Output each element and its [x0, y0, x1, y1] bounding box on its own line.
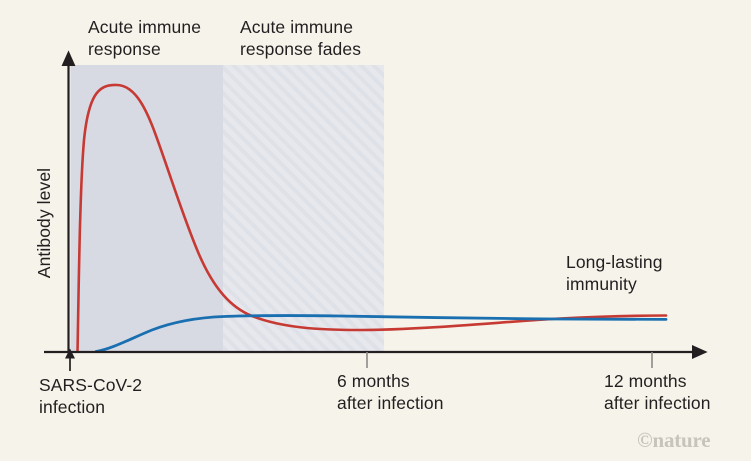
- label-6-months-after-infection: 6 months after infection: [337, 370, 444, 414]
- label-acute-immune-response: Acute immune response: [88, 16, 201, 60]
- band-acute-immune-response: [71, 65, 224, 352]
- label-acute-response-fades: Acute immune response fades: [240, 16, 361, 60]
- label-12-months-after-infection: 12 months after infection: [604, 370, 711, 414]
- band-acute-response-fades: [223, 65, 384, 352]
- label-long-lasting-immunity: Long-lasting immunity: [566, 251, 663, 295]
- nature-credit-logo: ©nature: [637, 428, 710, 453]
- label-sars-cov-2-infection: SARS-CoV-2 infection: [39, 374, 142, 418]
- y-axis-label: Antibody level: [33, 153, 55, 293]
